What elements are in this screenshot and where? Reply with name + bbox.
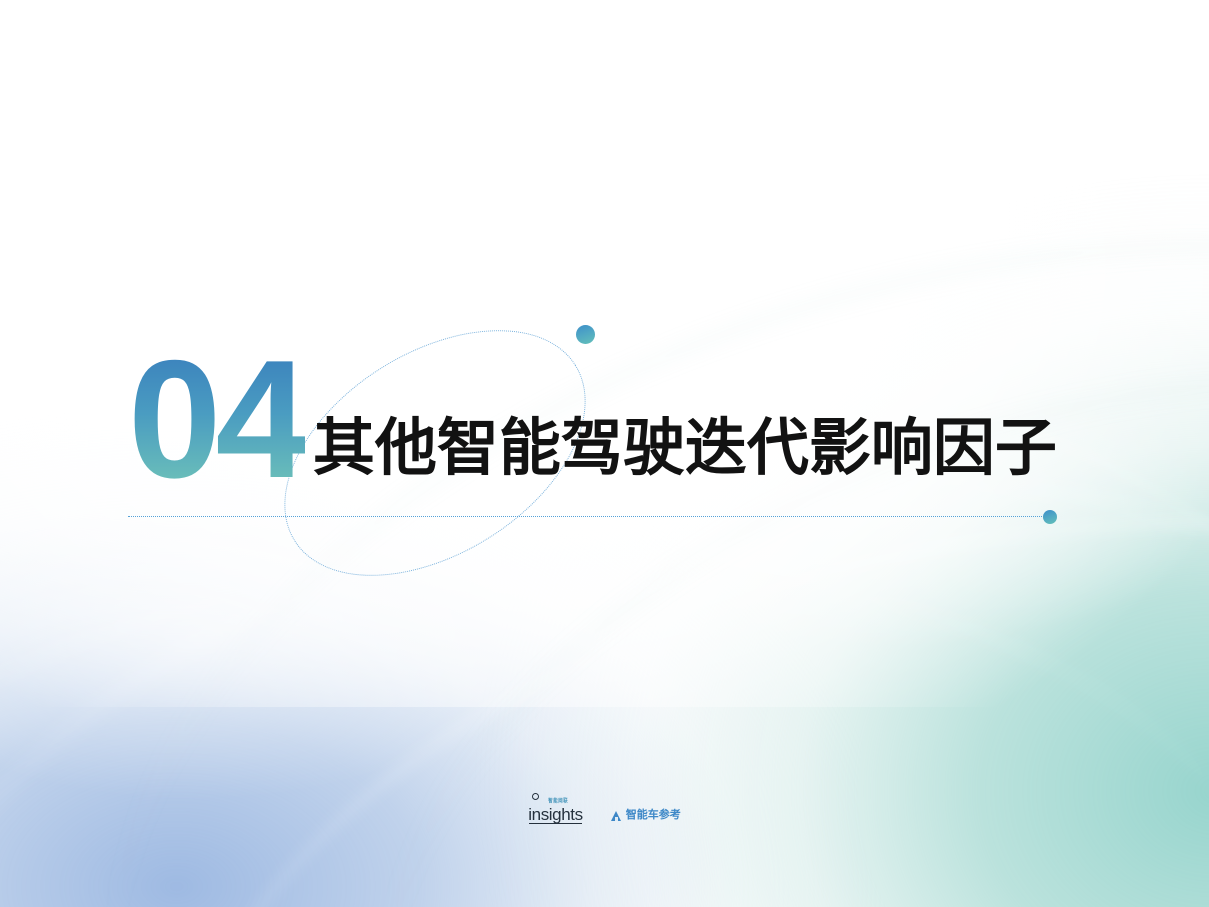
page-title: 其他智能驾驶迭代影响因子: [313, 418, 1057, 486]
logo-zhinengche-cankao: 智能车参考: [611, 810, 681, 823]
footer-logos: 智能网联 insights 智能车参考: [0, 800, 1209, 823]
slide-canvas: 04 其他智能驾驶迭代影响因子 智能网联 insights 智能车参考: [0, 0, 1209, 907]
accent-dot-icon-line-end: [1043, 510, 1057, 524]
accent-dot-icon-top: [576, 325, 595, 344]
logo-insights-wordmark: insights: [528, 806, 582, 823]
logo-insights-tagline: 智能网联: [548, 799, 568, 805]
dotted-divider-line: [128, 516, 1048, 517]
logo-insights: 智能网联 insights: [528, 800, 582, 823]
logo-zhinengche-wordmark: 智能车参考: [626, 810, 681, 821]
triangle-icon: [611, 811, 622, 821]
chapter-number: 04: [128, 352, 305, 486]
chapter-headline: 04 其他智能驾驶迭代影响因子: [128, 352, 1057, 486]
